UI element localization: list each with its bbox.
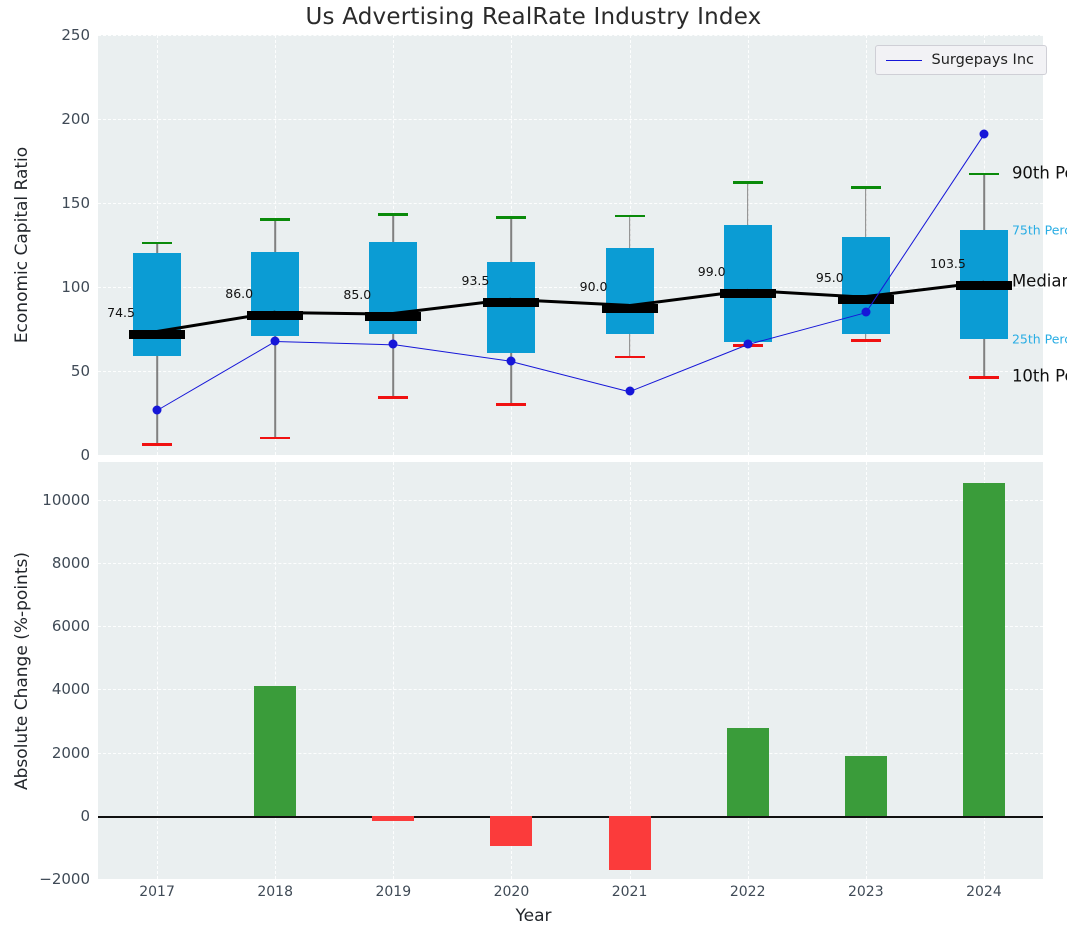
median-value-label: 86.0: [225, 286, 253, 301]
box-iqr: [251, 252, 299, 336]
x-axis-tick-label: 2022: [730, 884, 766, 900]
top-plot-area: [98, 35, 1043, 455]
median-marker: [365, 312, 421, 321]
box-iqr: [724, 225, 772, 343]
box-iqr: [487, 262, 535, 353]
x-axis-tick-label: 2023: [848, 884, 884, 900]
company-data-point: [271, 336, 280, 345]
median-value-label: 103.5: [930, 256, 966, 271]
annotation-4: 10th Percentile: [1012, 367, 1067, 386]
legend-line-icon: [886, 60, 922, 61]
p90-cap: [615, 215, 645, 218]
bar-2024: [963, 483, 1005, 816]
x-axis-tick-label: 2020: [494, 884, 530, 900]
p90-cap: [496, 216, 526, 219]
x-axis-tick-label: 2017: [139, 884, 175, 900]
bar-2022: [727, 728, 769, 816]
gridline-y: [98, 879, 1043, 880]
gridline-y: [98, 753, 1043, 754]
bar-2018: [254, 686, 296, 816]
legend[interactable]: Surgepays Inc: [875, 45, 1048, 75]
gridline-y: [98, 119, 1043, 120]
median-marker: [720, 289, 776, 298]
p10-cap: [969, 376, 999, 379]
bar-2021: [609, 816, 651, 870]
y-axis-tick-label: 0: [0, 807, 98, 825]
median-value-label: 99.0: [698, 264, 726, 279]
box-iqr: [606, 248, 654, 334]
y-axis-tick-label: 10000: [0, 491, 98, 509]
gridline-y: [98, 455, 1043, 456]
y-axis-tick-label: 250: [0, 26, 98, 44]
p90-cap: [260, 218, 290, 221]
x-axis-tick-label: 2018: [257, 884, 293, 900]
gridline-y: [98, 203, 1043, 204]
bar-2019: [372, 816, 414, 821]
y-axis-label-top: Economic Capital Ratio: [12, 147, 32, 343]
p90-cap: [142, 242, 172, 245]
chart-root: Us Advertising RealRate Industry Index 7…: [0, 0, 1067, 942]
gridline-y: [98, 371, 1043, 372]
p10-cap: [615, 356, 645, 359]
box-iqr: [133, 253, 181, 355]
annotation-2: Median: [1012, 272, 1067, 291]
gridline-y: [98, 689, 1043, 690]
p90-cap: [733, 181, 763, 184]
median-value-label: 74.5: [107, 305, 135, 320]
median-marker: [956, 281, 1012, 290]
p10-cap: [378, 396, 408, 399]
gridline-y: [98, 563, 1043, 564]
median-value-label: 85.0: [343, 287, 371, 302]
company-data-point: [153, 405, 162, 414]
median-marker: [602, 304, 658, 313]
x-axis-tick-label: 2021: [612, 884, 648, 900]
annotation-1: 75th Percentile: [1012, 222, 1067, 237]
y-axis-tick-label: 200: [0, 110, 98, 128]
y-axis-tick-label: −2000: [0, 870, 98, 888]
x-axis-tick-label: 2019: [375, 884, 411, 900]
p10-cap: [260, 437, 290, 440]
company-data-point: [743, 340, 752, 349]
bar-2020: [490, 816, 532, 846]
median-marker: [483, 298, 539, 307]
median-marker: [129, 330, 185, 339]
gridline-y: [98, 35, 1043, 36]
chart-title: Us Advertising RealRate Industry Index: [0, 4, 1067, 30]
p90-cap: [378, 213, 408, 216]
gridline-y: [98, 626, 1043, 627]
company-data-point: [389, 340, 398, 349]
annotation-3: 25th Percentile: [1012, 332, 1067, 347]
legend-label-surgepays: Surgepays Inc: [932, 52, 1035, 68]
bar-2023: [845, 756, 887, 816]
y-axis-tick-label: 50: [0, 362, 98, 380]
p10-cap: [142, 443, 172, 446]
x-axis-tick-label: 2024: [966, 884, 1002, 900]
company-data-point: [507, 356, 516, 365]
company-data-point: [625, 387, 634, 396]
zero-line: [98, 816, 1043, 818]
annotation-0: 90th Percentile: [1012, 163, 1067, 182]
p10-cap: [496, 403, 526, 406]
median-value-label: 95.0: [816, 270, 844, 285]
y-axis-label-bottom: Absolute Change (%-points): [12, 552, 32, 790]
median-marker: [247, 311, 303, 320]
median-value-label: 90.0: [580, 279, 608, 294]
p90-cap: [969, 173, 999, 176]
bottom-plot-area: [98, 462, 1043, 879]
company-data-point: [861, 308, 870, 317]
median-marker: [838, 295, 894, 304]
median-value-label: 93.5: [462, 273, 490, 288]
p90-cap: [851, 186, 881, 189]
company-data-point: [979, 130, 988, 139]
x-axis-label: Year: [0, 906, 1067, 926]
p10-cap: [851, 339, 881, 342]
y-axis-tick-label: 0: [0, 446, 98, 464]
gridline-y: [98, 500, 1043, 501]
